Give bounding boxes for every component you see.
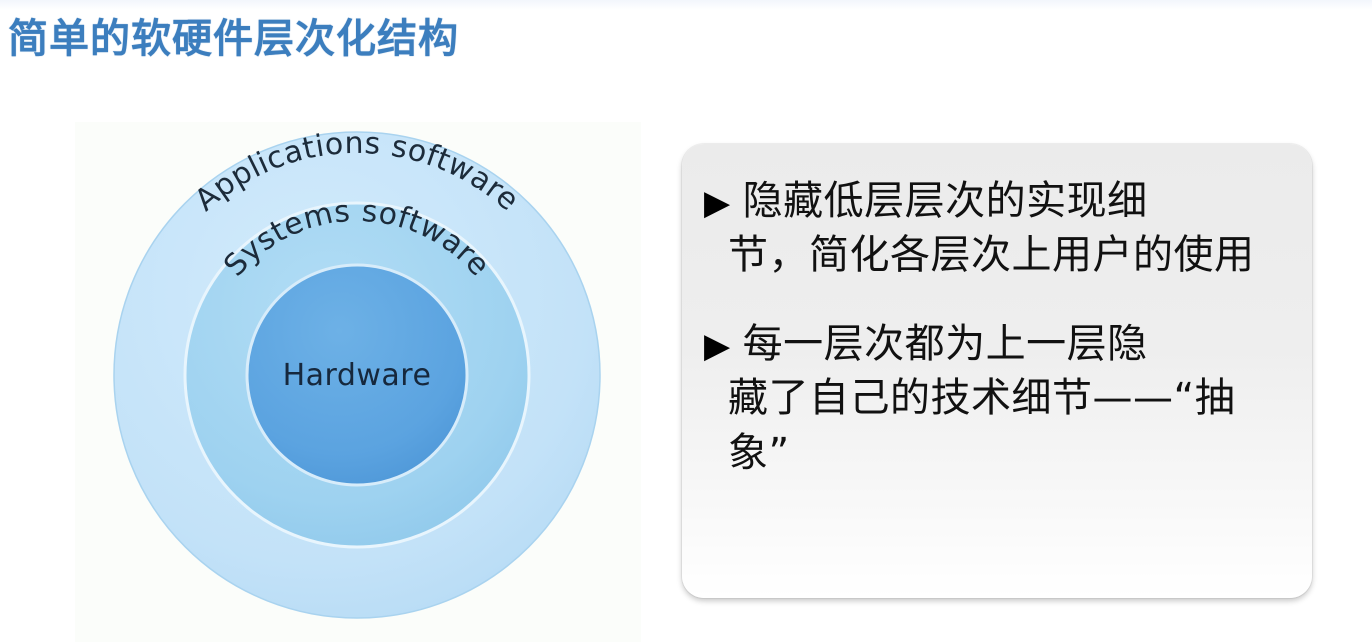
page-title: 简单的软硬件层次化结构 <box>8 6 459 64</box>
bullet-item-2: ▶每一层次都为上一层隐 藏了自己的技术细节——“抽象” <box>704 317 1290 480</box>
bullet-triangle-icon-2: ▶ <box>704 326 731 366</box>
bullet-item-2-head: 每一层次都为上一层隐 <box>743 321 1148 367</box>
layered-structure-figure: Applications software Systems software H… <box>75 122 641 642</box>
core-label-hardware: Hardware <box>283 358 432 393</box>
concentric-rings-svg: Applications software Systems software H… <box>75 122 641 642</box>
bullet-item-1-head: 隐藏低层层次的实现细 <box>743 178 1148 224</box>
bullet-item-2-tail: 藏了自己的技术细节——“抽象” <box>704 371 1290 480</box>
bullet-item-1: ▶隐藏低层层次的实现细 节，简化各层次上用户的使用 <box>704 174 1290 283</box>
bullet-triangle-icon: ▶ <box>704 183 731 223</box>
bullet-points-panel: ▶隐藏低层层次的实现细 节，简化各层次上用户的使用 ▶每一层次都为上一层隐 藏了… <box>682 144 1312 598</box>
bullet-item-1-tail: 节，简化各层次上用户的使用 <box>704 228 1290 282</box>
